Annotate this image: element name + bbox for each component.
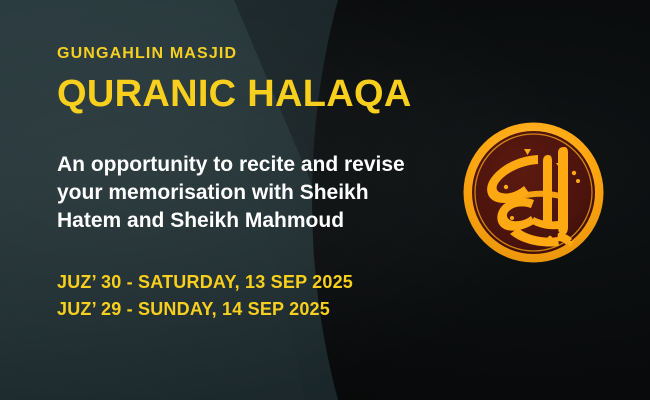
banner-content: GUNGAHLIN MASJID QURANIC HALAQA An oppor…: [57, 40, 477, 323]
event-description-line: your memorisation with Sheikh: [57, 179, 467, 207]
quran-emblem-icon: [462, 121, 605, 264]
event-description-line: Hatem and Sheikh Mahmoud: [57, 207, 467, 235]
organisation-name: GUNGAHLIN MASJID: [57, 46, 477, 62]
event-date-row: JUZ’ 29 - SUNDAY, 14 SEP 2025: [57, 296, 477, 323]
page-title: QURANIC HALAQA: [57, 75, 477, 113]
event-date-row: JUZ’ 30 - SATURDAY, 13 SEP 2025: [57, 269, 477, 296]
event-description-line: An opportunity to recite and revise: [57, 151, 467, 179]
event-dates: JUZ’ 30 - SATURDAY, 13 SEP 2025 JUZ’ 29 …: [57, 269, 477, 324]
quranic-halaqa-banner: GUNGAHLIN MASJID QURANIC HALAQA An oppor…: [0, 0, 650, 400]
event-description: An opportunity to recite and revise your…: [57, 151, 467, 235]
